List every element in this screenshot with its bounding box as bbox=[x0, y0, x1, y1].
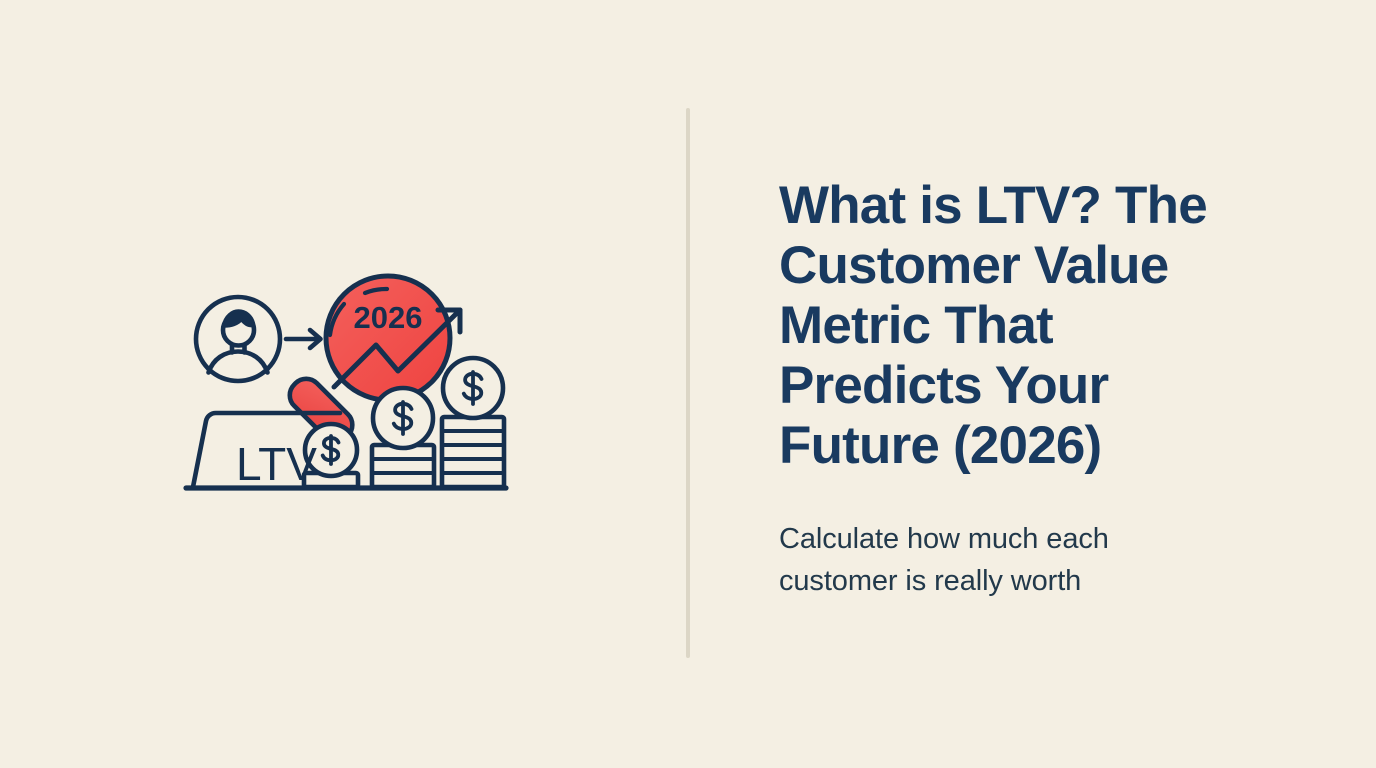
ltv-growth-illustration: 2026 bbox=[176, 268, 516, 508]
page-subtitle: Calculate how much each customer is real… bbox=[779, 518, 1199, 602]
illustration-svg: 2026 bbox=[176, 268, 516, 508]
magnifier-year-label: 2026 bbox=[354, 300, 423, 335]
arrow-right-icon bbox=[286, 330, 321, 348]
hero-canvas: 2026 bbox=[0, 0, 1376, 768]
ltv-platform-label: LTV bbox=[236, 438, 317, 490]
coin-stack-medium bbox=[372, 388, 434, 487]
vertical-divider bbox=[686, 108, 690, 658]
customer-avatar-icon bbox=[196, 297, 280, 381]
illustration-panel: 2026 bbox=[0, 0, 686, 768]
text-panel: What is LTV? The Customer Value Metric T… bbox=[779, 0, 1279, 768]
coin-stack-large bbox=[442, 358, 504, 487]
page-title: What is LTV? The Customer Value Metric T… bbox=[779, 176, 1249, 476]
